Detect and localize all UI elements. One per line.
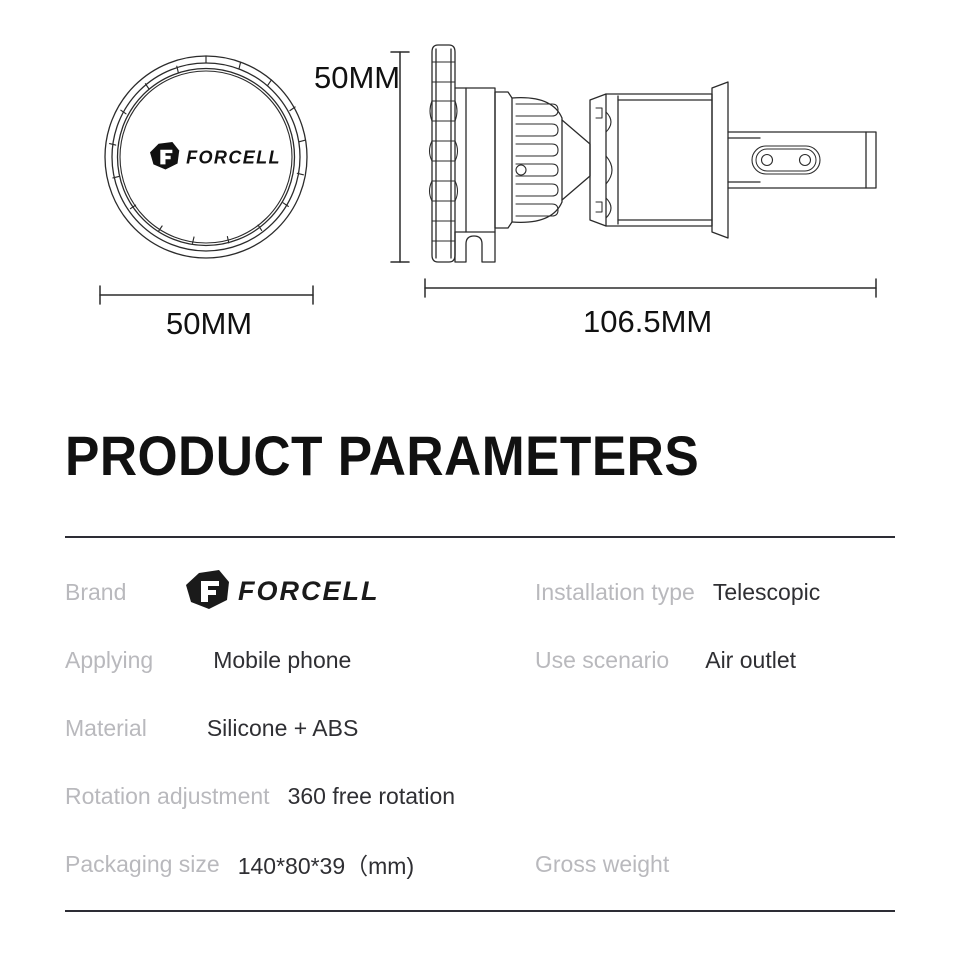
base-body bbox=[455, 88, 495, 262]
spec-label-gross-weight: Gross weight bbox=[535, 851, 669, 878]
dimension-length-line bbox=[425, 279, 876, 297]
clamp-head bbox=[590, 94, 712, 226]
spec-row-packaging-size: Packaging size 140*80*39（mm) Gross weigh… bbox=[65, 830, 895, 898]
spec-value-rotation-adjustment: 360 free rotation bbox=[288, 783, 456, 810]
dimension-lines bbox=[100, 52, 876, 304]
spec-cell-rotation-adjustment: Rotation adjustment 360 free rotation bbox=[65, 762, 535, 830]
spec-cell-packaging-size: Packaging size 140*80*39（mm) bbox=[65, 830, 535, 898]
spec-cell-empty-3 bbox=[535, 762, 895, 830]
spec-value-applying: Mobile phone bbox=[213, 647, 351, 674]
divider-bottom bbox=[65, 910, 895, 912]
spec-label-installation-type: Installation type bbox=[535, 579, 695, 606]
spec-cell-installation-type: Installation type Telescopic bbox=[535, 558, 895, 626]
spec-cell-gross-weight: Gross weight bbox=[535, 830, 895, 898]
tapered-neck bbox=[562, 120, 590, 200]
forcell-mark-icon bbox=[186, 570, 229, 609]
technical-drawing-svg: 50MM 50MM 106.5MM FORCELL bbox=[0, 0, 960, 360]
spec-label-applying: Applying bbox=[65, 647, 153, 674]
spec-value-material: Silicone + ABS bbox=[207, 715, 359, 742]
forcell-wordmark: FORCELL bbox=[186, 148, 281, 168]
forcell-mark-icon bbox=[150, 142, 179, 170]
side-disc-edge bbox=[430, 45, 458, 262]
spec-label-use-scenario: Use scenario bbox=[535, 647, 669, 674]
spec-row-applying: Applying Mobile phone Use scenario Air o… bbox=[65, 626, 895, 694]
finned-housing bbox=[495, 92, 562, 228]
spec-label-material: Material bbox=[65, 715, 147, 742]
spec-cell-applying: Applying Mobile phone bbox=[65, 626, 535, 694]
spec-label-rotation-adjustment: Rotation adjustment bbox=[65, 783, 270, 810]
front-view-logo: FORCELL bbox=[150, 142, 281, 170]
spec-table: Brand FORCELL Installation type Telescop… bbox=[65, 538, 895, 910]
side-view-assembly bbox=[430, 45, 877, 262]
spec-row-rotation-adjustment: Rotation adjustment 360 free rotation bbox=[65, 762, 895, 830]
spec-cell-brand: Brand FORCELL bbox=[65, 558, 535, 626]
brand-logo: FORCELL bbox=[186, 570, 398, 615]
spec-cell-use-scenario: Use scenario Air outlet bbox=[535, 626, 895, 694]
spec-value-installation-type: Telescopic bbox=[713, 579, 820, 606]
spec-value-use-scenario: Air outlet bbox=[705, 647, 796, 674]
dimension-diameter-line bbox=[100, 286, 313, 304]
product-parameters-section: Brand FORCELL Installation type Telescop… bbox=[65, 536, 895, 912]
dimension-height-label: 50MM bbox=[314, 60, 400, 95]
spec-value-packaging-size: 140*80*39（mm) bbox=[238, 847, 414, 881]
forcell-wordmark: FORCELL bbox=[238, 576, 380, 606]
dimension-diameter-label: 50MM bbox=[166, 306, 252, 341]
page-title: PRODUCT PARAMETERS bbox=[65, 424, 699, 488]
dimension-length-label: 106.5MM bbox=[583, 304, 712, 339]
spec-row-material: Material Silicone + ABS bbox=[65, 694, 895, 762]
spec-label-packaging-size: Packaging size bbox=[65, 851, 220, 878]
telescopic-arm bbox=[712, 82, 876, 238]
spec-label-brand: Brand bbox=[65, 579, 126, 606]
spec-cell-empty-2 bbox=[535, 694, 895, 762]
technical-drawing-area: 50MM 50MM 106.5MM FORCELL bbox=[0, 0, 960, 360]
spec-cell-material: Material Silicone + ABS bbox=[65, 694, 535, 762]
spec-row-brand: Brand FORCELL Installation type Telescop… bbox=[65, 558, 895, 626]
